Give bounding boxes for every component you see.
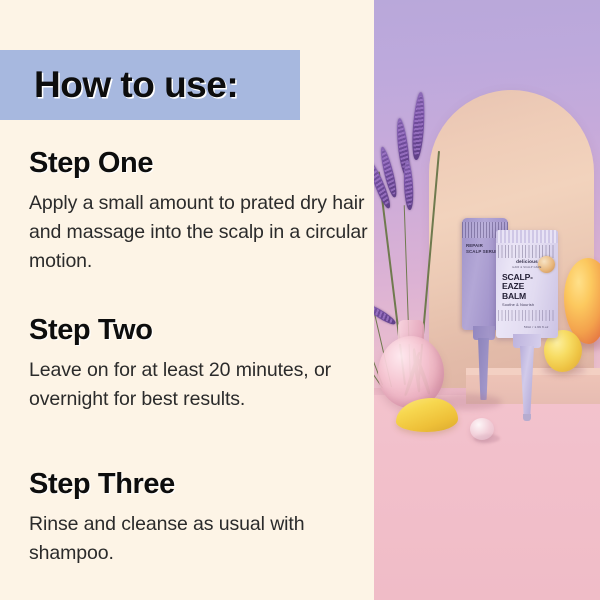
tube-front-tip (523, 414, 531, 421)
step-three: Step Three Rinse and cleanse as usual wi… (29, 467, 374, 568)
step-three-body: Rinse and cleanse as usual with shampoo. (29, 510, 374, 568)
step-one: Step One Apply a small amount to prated … (29, 146, 374, 276)
page-title: How to use: (34, 57, 304, 113)
how-to-use-card: How to use: Step One Apply a small amoun… (0, 0, 600, 600)
instructions-column: How to use: Step One Apply a small amoun… (0, 0, 374, 600)
step-two-heading: Step Two (29, 313, 374, 347)
lavender-bloom (411, 92, 427, 161)
step-one-body: Apply a small amount to prated dry hair … (29, 189, 374, 276)
product-size: 50ml / 1.69 fl.oz (524, 325, 558, 329)
product-tagline: Soothe & Nourish (502, 302, 554, 307)
step-two: Step Two Leave on for at least 20 minute… (29, 313, 374, 414)
tube-front-lace-pattern-lower (498, 310, 556, 321)
tube-back-cap (473, 326, 495, 340)
product-brand-subtitle: HAIR & SCALP CARE (502, 266, 552, 269)
tube-front-cap (513, 334, 541, 348)
step-three-heading: Step Three (29, 467, 374, 501)
step-two-body: Leave on for at least 20 minutes, or ove… (29, 356, 374, 414)
tube-front-crimp (496, 230, 558, 243)
product-brand: delicious (502, 259, 552, 264)
product-name: SCALP-EAZEBALM (502, 273, 554, 301)
product-photo: REPAIRSCALP SERUM delicious HAIR & SCALP… (374, 0, 600, 600)
gel-droplet (470, 418, 494, 440)
step-one-heading: Step One (29, 146, 374, 180)
lavender-bloom (403, 160, 415, 210)
